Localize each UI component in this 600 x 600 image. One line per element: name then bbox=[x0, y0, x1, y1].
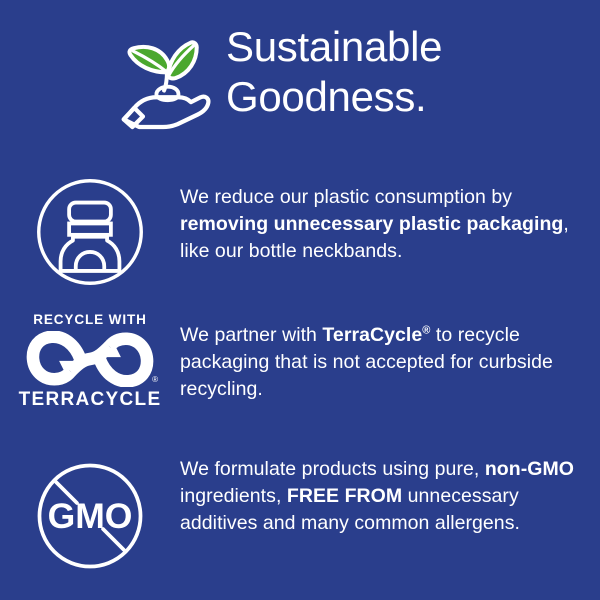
header: Sustainable Goodness. bbox=[0, 22, 600, 142]
bottle-neckband-circle-icon bbox=[0, 170, 180, 288]
recycle-infinity-arrows-icon: ® bbox=[24, 331, 156, 387]
page-title: Sustainable Goodness. bbox=[226, 22, 442, 122]
text-segment-bold: removing unnecessary plastic packaging bbox=[180, 213, 563, 235]
terracycle-top-label: RECYCLE WITH bbox=[33, 312, 147, 328]
text-segment: We partner with bbox=[180, 324, 322, 346]
text-segment: We formulate products using pure, bbox=[180, 458, 485, 480]
no-gmo-circle-icon: GMO bbox=[0, 442, 180, 574]
hand-holding-plant-icon bbox=[118, 30, 214, 130]
gmo-label: GMO bbox=[48, 496, 133, 536]
text-segment-bold: TerraCycle bbox=[322, 324, 422, 346]
body-text: We reduce our plastic consumption by rem… bbox=[180, 184, 588, 265]
sustainable-goodness-infographic: Sustainable Goodness. We reduce our plas… bbox=[0, 0, 600, 600]
text-segment-bold: non-GMO bbox=[485, 458, 574, 480]
registered-trademark-icon: ® bbox=[152, 376, 158, 384]
feature-row-plastic: We reduce our plastic consumption by rem… bbox=[0, 170, 600, 288]
text-segment-bold: FREE FROM bbox=[287, 485, 402, 507]
title-line-1: Sustainable bbox=[226, 22, 442, 72]
terracycle-logo: RECYCLE WITH bbox=[0, 308, 180, 411]
text-segment: ingredients, bbox=[180, 485, 287, 507]
feature-row-terracycle: RECYCLE WITH bbox=[0, 308, 600, 411]
feature-text-terracycle: We partner with TerraCycle® to recycle p… bbox=[180, 308, 600, 403]
text-segment: We reduce our plastic consumption by bbox=[180, 186, 512, 208]
body-text: We formulate products using pure, non-GM… bbox=[180, 456, 588, 537]
feature-row-gmo: GMO We formulate products using pure, no… bbox=[0, 442, 600, 574]
title-line-2: Goodness. bbox=[226, 72, 442, 122]
feature-text-plastic: We reduce our plastic consumption by rem… bbox=[180, 170, 600, 265]
terracycle-bottom-label: TERRACYCLE bbox=[19, 389, 162, 411]
body-text: We partner with TerraCycle® to recycle p… bbox=[180, 322, 588, 403]
feature-text-gmo: We formulate products using pure, non-GM… bbox=[180, 442, 600, 537]
